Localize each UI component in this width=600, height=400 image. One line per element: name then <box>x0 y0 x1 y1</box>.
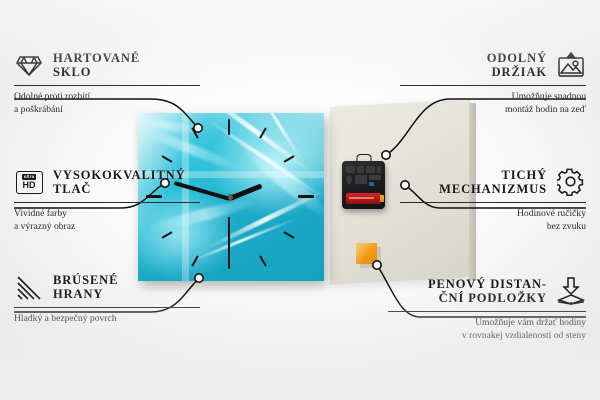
feature-wall-mount: ODOLNÝ DRŽIAK Umožňuje snadnou montáž ho… <box>400 50 586 116</box>
aa-battery <box>346 193 381 204</box>
feature-foam-spacers: PENOVÝ DISTAN- ČNÍ PODLOŽKY Umožňuje vám… <box>388 276 586 342</box>
feature-title: ODOLNÝ DRŽIAK <box>487 51 547 79</box>
movement-hanger-hook <box>356 154 371 163</box>
feature-tempered-glass: HARTOVANÉ SKLO Odolné proti rozbití a po… <box>14 50 200 116</box>
ultra-hd-badge-icon: ultra HD <box>14 167 44 197</box>
foam-spacer-pad <box>356 243 377 264</box>
divider <box>388 311 586 312</box>
diamond-icon <box>14 50 44 80</box>
feature-description: Hladký a bezpečný povrch <box>14 313 200 326</box>
feature-description: Hodinové ručičky bez zvuku <box>400 208 586 233</box>
clock-center-pin <box>228 195 233 200</box>
feature-description: Umožňuje snadnou montáž hodin na zeď <box>400 91 586 116</box>
divider <box>14 307 200 308</box>
infographic-canvas: HARTOVANÉ SKLO Odolné proti rozbití a po… <box>0 0 600 400</box>
feature-title: PENOVÝ DISTAN- ČNÍ PODLOŽKY <box>428 277 547 305</box>
feature-description: Vividné farby a výrazný obraz <box>14 208 200 233</box>
polished-edges-icon <box>14 272 44 302</box>
feature-hd-print: ultra HD VYSOKOKVALITNÝ TLAČ Vividné far… <box>14 167 200 233</box>
divider <box>14 202 200 203</box>
wall-mount-frame-icon <box>556 50 586 80</box>
ultra-label: ultra <box>22 174 37 180</box>
movement-detail-grid <box>346 166 381 188</box>
feature-quiet-mechanism: TICHÝ MECHANIZMUS Hodinové ručičky bez z… <box>400 167 586 233</box>
feature-polished-edges: BRÚSENÉ HRANY Hladký a bezpečný povrch <box>14 272 200 326</box>
divider <box>400 85 586 86</box>
hd-label: HD <box>23 181 36 190</box>
feature-title: TICHÝ MECHANIZMUS <box>439 168 547 196</box>
foam-spacer-press-icon <box>556 276 586 306</box>
feature-description: Umožňuje vám držať hodiny v rovnakej vzd… <box>388 317 586 342</box>
divider <box>400 202 586 203</box>
feature-title: VYSOKOKVALITNÝ TLAČ <box>53 168 186 196</box>
clock-hour-hand <box>229 183 262 200</box>
divider <box>14 85 200 86</box>
quartz-movement <box>342 161 385 209</box>
feature-title: HARTOVANÉ SKLO <box>53 51 140 79</box>
feature-description: Odolné proti rozbití a poškrábání <box>14 91 200 116</box>
feature-title: BRÚSENÉ HRANY <box>53 273 118 301</box>
gear-icon <box>556 167 586 197</box>
